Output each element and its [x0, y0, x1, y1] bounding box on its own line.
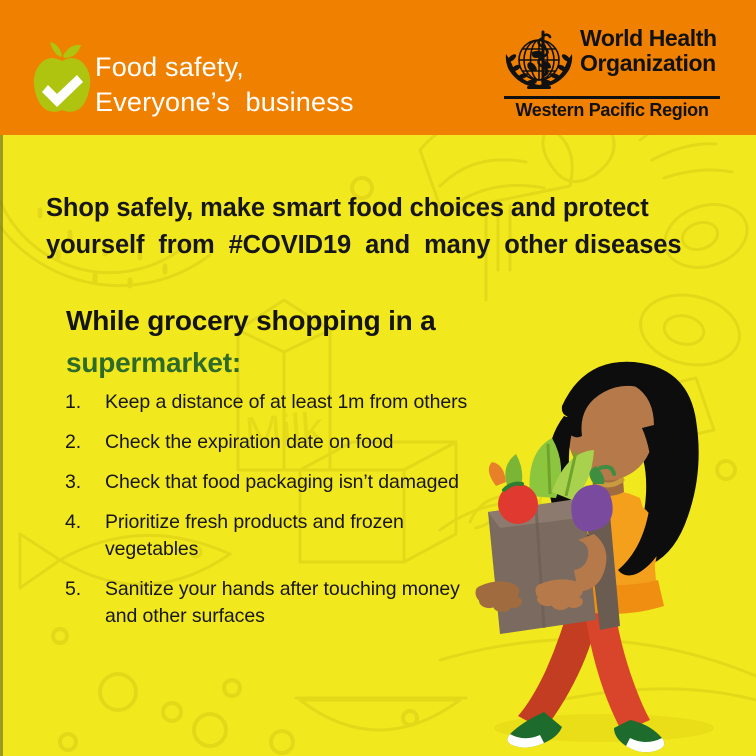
main-content: Shop safely, make smart food choices and… [0, 0, 756, 756]
list-item-number: 1. [65, 389, 95, 416]
list-item-number: 2. [65, 429, 95, 456]
list-item: 1. Keep a distance of at least 1m from o… [62, 389, 482, 416]
subheading-line-2: supermarket: [66, 342, 496, 384]
subheading: While grocery shopping in a supermarket: [66, 300, 496, 384]
list-item: 2. Check the expiration date on food [62, 429, 482, 456]
headline: Shop safely, make smart food choices and… [46, 190, 706, 264]
list-item: 5. Sanitize your hands after touching mo… [62, 576, 482, 630]
list-item-number: 3. [65, 469, 95, 496]
list-item-text: Check the expiration date on food [105, 431, 393, 453]
tips-list: 1. Keep a distance of at least 1m from o… [62, 389, 482, 643]
list-item: 3. Check that food packaging isn’t damag… [62, 469, 482, 496]
list-item-text: Prioritize fresh products and frozen veg… [105, 511, 404, 560]
list-item-text: Keep a distance of at least 1m from othe… [105, 391, 467, 413]
list-item-text: Check that food packaging isn’t damaged [105, 471, 459, 493]
headline-line-1: Shop safely, make smart food choices and… [46, 190, 706, 227]
subheading-line-1: While grocery shopping in a [66, 300, 496, 342]
list-item: 4. Prioritize fresh products and frozen … [62, 509, 482, 563]
infographic-poster: Milk [0, 0, 756, 756]
list-item-number: 5. [65, 576, 95, 603]
list-item-text: Sanitize your hands after touching money… [105, 578, 460, 627]
list-item-number: 4. [65, 509, 95, 536]
headline-line-2: yourself from #COVID19 and many other di… [46, 227, 706, 264]
